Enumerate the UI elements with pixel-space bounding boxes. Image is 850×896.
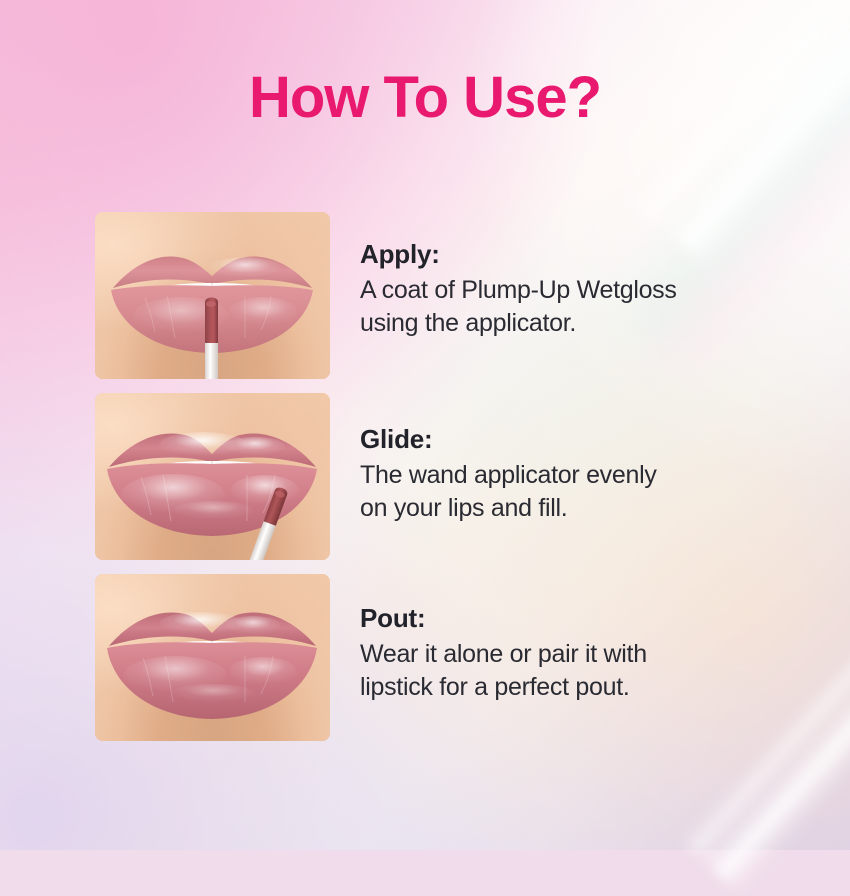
step-description: Wear it alone or pair it with lipstick f… xyxy=(360,638,647,704)
step-text-apply: Apply: A coat of Plump-Up Wetgloss using… xyxy=(360,212,677,340)
lips-illustration xyxy=(95,574,330,741)
step-image-apply xyxy=(95,212,330,379)
step-image-pout xyxy=(95,574,330,741)
step-description: A coat of Plump-Up Wetgloss using the ap… xyxy=(360,274,677,340)
steps-list: Apply: A coat of Plump-Up Wetgloss using… xyxy=(95,212,795,741)
wand-applicator xyxy=(95,212,330,379)
how-to-use-page: How To Use? xyxy=(0,0,850,850)
step-item-pout: Pout: Wear it alone or pair it with lips… xyxy=(95,574,795,741)
wand-stem xyxy=(205,340,218,379)
page-title: How To Use? xyxy=(0,68,850,129)
step-item-apply: Apply: A coat of Plump-Up Wetgloss using… xyxy=(95,212,795,379)
lips-illustration xyxy=(95,393,330,560)
step-heading: Pout: xyxy=(360,602,647,636)
step-image-glide xyxy=(95,393,330,560)
lips-illustration xyxy=(95,212,330,379)
step-item-glide: Glide: The wand applicator evenly on you… xyxy=(95,393,795,560)
step-text-glide: Glide: The wand applicator evenly on you… xyxy=(360,393,657,525)
step-description: The wand applicator evenly on your lips … xyxy=(360,459,657,525)
step-heading: Apply: xyxy=(360,238,677,272)
wand-applicator xyxy=(95,393,330,560)
lips-vector xyxy=(95,574,330,741)
lower-lip-gloss-right xyxy=(229,657,297,687)
wand-stem xyxy=(248,518,277,560)
step-text-pout: Pout: Wear it alone or pair it with lips… xyxy=(360,574,647,704)
step-heading: Glide: xyxy=(360,423,657,457)
